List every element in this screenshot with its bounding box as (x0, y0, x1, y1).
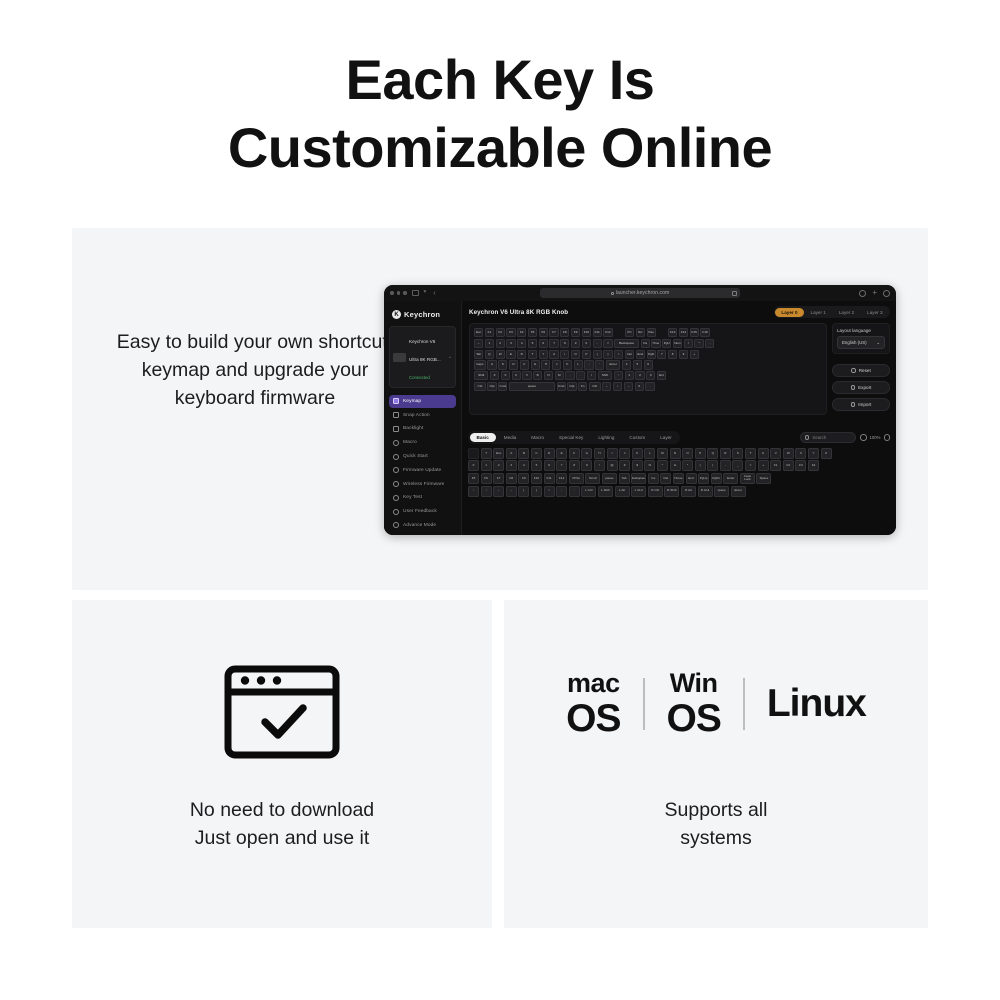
key-picker-key[interactable]: ? (481, 448, 492, 459)
key-picker-key[interactable]: 3 (506, 460, 517, 471)
key-picker-key[interactable]: F7 (493, 473, 504, 484)
key-picker-key[interactable]: space (714, 486, 729, 497)
keyboard-key[interactable]: F10 (582, 328, 591, 337)
key-picker-key[interactable]: 0 (468, 460, 479, 471)
keyboard-key[interactable]: O (571, 350, 580, 359)
keyboard-key[interactable]: H (541, 360, 550, 369)
keyboard-key[interactable]: Esc (474, 328, 483, 337)
keyboard-key[interactable]: ] (603, 350, 612, 359)
keyboard-key[interactable]: Y (539, 350, 548, 359)
keyboard-layout-panel[interactable]: EscF1F2F3F4F5F6F7F8F9F10F11F12PrtScrPauF… (469, 323, 827, 415)
layout-language-select[interactable]: English (US) ⌄ (837, 336, 885, 349)
key-picker-key[interactable]: O (682, 448, 693, 459)
os-macos-bottom: OS (566, 699, 620, 738)
keyboard-key[interactable]: Cmd (557, 382, 566, 391)
divider (643, 678, 645, 730)
keyboard-key[interactable]: Ent (657, 371, 666, 380)
hero-description: Easy to build your own shortcut, keymap … (110, 328, 400, 412)
keyboard-key[interactable]: PgD (647, 350, 656, 359)
keyboard-key[interactable]: End (636, 350, 645, 359)
keyboard-key[interactable]: Hme (651, 339, 660, 348)
keyboard-key[interactable]: F3 (506, 328, 515, 337)
keyboard-row: ~1234567890-=BackspaceInsHmePgUNum/*- (474, 339, 822, 348)
sidebar-item-label: Advance Mode (403, 523, 436, 528)
search-placeholder: Search (812, 435, 826, 440)
sidebar-item-key-test[interactable]: Key Test (389, 491, 456, 504)
import-icon (851, 402, 856, 407)
key-picker-key[interactable]: * (682, 460, 693, 471)
key-picker-key[interactable]: PgUp (698, 473, 709, 484)
keyboard-key[interactable]: B (533, 371, 542, 380)
key-picker-key[interactable]: Enter (723, 473, 738, 484)
keyboard-row: EscF1F2F3F4F5F6F7F8F9F10F11F12PrtScrPauF… (474, 328, 822, 337)
keyboard-key[interactable]: F13 (668, 328, 677, 337)
key-picker-key[interactable]: % (644, 460, 655, 471)
maximize-icon[interactable] (403, 291, 407, 295)
key-picker-key[interactable]: End (686, 473, 697, 484)
key-picker-key[interactable]: L (644, 448, 655, 459)
keyboard-key[interactable]: M (555, 371, 564, 380)
sidebar-item-quick-start[interactable]: Quick Start (389, 450, 456, 463)
keyboard-key[interactable]: F8 (560, 328, 569, 337)
key-picker-key[interactable]: F5 (468, 473, 479, 484)
keyboard-key[interactable]: Scr (636, 328, 645, 337)
key-picker-key[interactable]: _ (732, 460, 743, 471)
key-picker-key[interactable]: PrtSc (569, 473, 584, 484)
sidebar-nav: KeymapSnap ActionBacklightMacroQuick Sta… (389, 395, 456, 532)
zoom-in-icon[interactable] (884, 434, 891, 441)
key-picker-key[interactable]: ] (531, 486, 542, 497)
key-picker-key[interactable]: ↑ (468, 486, 479, 497)
keyboard-key[interactable]: → (624, 382, 633, 391)
key-picker-key[interactable]: Space (756, 473, 771, 484)
key-picker-key[interactable]: @ (607, 460, 618, 471)
key-picker-key[interactable]: R Shift (664, 486, 679, 497)
browser-titlebar: ▾ ‹ launcher.keychron.com + (384, 285, 896, 301)
keyboard-key[interactable]: U (549, 350, 558, 359)
key-picker-key[interactable]: U (758, 448, 769, 459)
page-title: Each Key Is Customizable Online (0, 46, 1000, 182)
keyboard-key[interactable]: space (509, 382, 555, 391)
keyboard-key[interactable]: ↓ (613, 382, 622, 391)
keyboard-key[interactable]: R (517, 350, 526, 359)
app-body: K Keychron Keychron V6 Ultra 8K RGB... C… (384, 301, 896, 535)
key-picker-key[interactable]: D (544, 448, 555, 459)
keyboard-key[interactable]: F12 (603, 328, 612, 337)
keyboard-key[interactable]: F5 (528, 328, 537, 337)
main-header: Keychron V6 Ultra 8K RGB Knob Layer 0Lay… (469, 306, 890, 318)
key-picker-key[interactable]: Z (821, 448, 832, 459)
device-thumbnail-icon (393, 353, 406, 362)
keyboard-key[interactable]: C (512, 371, 521, 380)
key-picker-toolbar: BasicMediaMacroSpecial KeyLightingCustom… (468, 431, 890, 444)
keyboard-key[interactable]: 4 (622, 360, 631, 369)
sidebar-item-wireless-firmware[interactable]: Wireless Firmware (389, 478, 456, 491)
keyboard-key[interactable]: = (603, 339, 612, 348)
search-icon (805, 435, 809, 439)
key-picker-key[interactable]: Y (808, 448, 819, 459)
key-picker-key[interactable]: X (795, 448, 806, 459)
keyboard-key[interactable]: 1 (485, 339, 494, 348)
keyboard-key[interactable]: + (690, 350, 699, 359)
keyboard-key[interactable]: F11 (593, 328, 602, 337)
keyboard-key[interactable]: 6 (644, 360, 653, 369)
snap-action-icon (393, 412, 399, 418)
reader-icon[interactable] (732, 291, 737, 296)
keychron-logo: K Keychron (389, 307, 456, 326)
keyboard-key[interactable]: Del (625, 350, 634, 359)
user-feedback-icon (393, 509, 399, 515)
keyboard-key[interactable]: L (574, 360, 583, 369)
keyboard-key[interactable]: ~ (474, 339, 483, 348)
key-picker-key[interactable]: # (619, 460, 630, 471)
key-picker-key[interactable]: R Alt (681, 486, 696, 497)
keyboard-key[interactable]: S (498, 360, 507, 369)
key-picker-key[interactable]: pause (602, 473, 617, 484)
card-supported-systems-caption: Supports all systems (504, 796, 928, 852)
key-picker-key[interactable]: Home (673, 473, 684, 484)
keyboard-key[interactable]: 3 (506, 339, 515, 348)
key-picker-key[interactable]: 8 (569, 460, 580, 471)
key-picker-key[interactable]: N (670, 448, 681, 459)
keyboard-key[interactable]: ↑ (614, 371, 623, 380)
key-picker-key[interactable]: Scroll (585, 473, 600, 484)
keyboard-key[interactable]: 5 (633, 360, 642, 369)
sidebar-item-firmware-update[interactable]: Firmware Update (389, 464, 456, 477)
keyboard-key[interactable]: F1 (485, 328, 494, 337)
window-controls[interactable] (390, 291, 407, 295)
key-picker-key[interactable]: ← (493, 486, 504, 497)
chevron-down-icon[interactable]: ▾ (424, 290, 427, 296)
os-windows-top: Win (670, 670, 718, 697)
key-picker-key[interactable]: $ (632, 460, 643, 471)
key-picker-key[interactable]: F1 (770, 460, 781, 471)
key-picker-key[interactable]: S (732, 448, 743, 459)
keyboard-key[interactable]: Num (673, 339, 682, 348)
sidebar-item-backlight[interactable]: Backlight (389, 423, 456, 436)
caption-line1: Supports all (665, 799, 768, 821)
keymap-icon (393, 398, 399, 404)
sidebar-item-snap-action[interactable]: Snap Action (389, 409, 456, 422)
keyboard-key[interactable]: 0 (582, 339, 591, 348)
key-picker-key[interactable]: F12 (556, 473, 567, 484)
key-picker-key[interactable]: & (670, 460, 681, 471)
keyboard-key[interactable]: E (506, 350, 515, 359)
share-icon[interactable] (859, 290, 866, 297)
keyboard-key[interactable]: X (501, 371, 510, 380)
key-picker-key[interactable]: \ (544, 486, 555, 497)
key-picker-key[interactable]: F6 (481, 473, 492, 484)
keyboard-key[interactable]: 7 (657, 350, 666, 359)
sidebar-item-macro[interactable]: Macro (389, 436, 456, 449)
key-picker-grid[interactable]: ?EscABCDEFGHIJKLMNOPQRSTUVWXYZ0123456789… (468, 448, 890, 497)
key-picker-key[interactable]: F2 (783, 460, 794, 471)
keyboard-key[interactable]: J (552, 360, 561, 369)
key-picker-key[interactable]: I (607, 448, 618, 459)
keyboard-key[interactable]: Enter (606, 360, 620, 369)
keyboard-key[interactable]: F9 (571, 328, 580, 337)
minimize-icon[interactable] (397, 291, 401, 295)
keyboard-key[interactable]: - (705, 339, 714, 348)
key-picker-key[interactable]: L GUI (631, 486, 646, 497)
keyboard-key[interactable]: , (565, 371, 574, 380)
keyboard-key[interactable]: F7 (549, 328, 558, 337)
wireless-firmware-icon (393, 481, 399, 487)
key-picker-key[interactable]: L Ctrl (581, 486, 596, 497)
keyboard-gap (657, 328, 666, 337)
search-input[interactable]: Search (800, 432, 856, 443)
key-picker-key[interactable]: M (657, 448, 668, 459)
keyboard-key[interactable]: Ctrl (474, 382, 486, 391)
key-picker-key[interactable]: 1 (481, 460, 492, 471)
tab-lighting[interactable]: Lighting (591, 433, 621, 443)
back-icon[interactable]: ‹ (433, 290, 435, 297)
key-picker-key[interactable]: 6 (544, 460, 555, 471)
tab-basic[interactable]: Basic (470, 433, 496, 443)
keyboard-key[interactable]: [ (593, 350, 602, 359)
keyboard-key[interactable]: D (509, 360, 518, 369)
close-icon[interactable] (390, 291, 394, 295)
keyboard-key[interactable]: I (560, 350, 569, 359)
keyboard-key[interactable]: G (531, 360, 540, 369)
keyboard-key[interactable]: Opt (487, 382, 496, 391)
tab-layer-0[interactable]: Layer 0 (775, 308, 803, 317)
chevron-down-icon[interactable]: ⌄ (448, 354, 452, 360)
key-picker-key[interactable]: 7 (556, 460, 567, 471)
key-picker-key[interactable]: E (556, 448, 567, 459)
keyboard-key[interactable]: . (576, 371, 585, 380)
sidebar-item-keymap[interactable]: Keymap (389, 395, 456, 408)
key-picker-key[interactable]: ↓ (481, 486, 492, 497)
keyboard-key[interactable]: ← (602, 382, 611, 391)
keyboard-key[interactable]: Tab (474, 350, 483, 359)
keyboard-key[interactable]: 3 (646, 371, 655, 380)
tab-media[interactable]: Media (497, 433, 524, 443)
sidebar-item-advance-mode[interactable]: Advance Mode (389, 519, 456, 532)
reset-button[interactable]: Reset (832, 364, 890, 377)
key-picker-key[interactable]: 5 (531, 460, 542, 471)
keyboard-key[interactable]: 5 (528, 339, 537, 348)
key-picker-key[interactable]: R Ctrl (648, 486, 663, 497)
key-picker-key[interactable]: F9 (518, 473, 529, 484)
device-status: Connected (409, 375, 430, 380)
layout-language-value: English (US) (842, 340, 867, 345)
key-picker-key[interactable]: → (506, 486, 517, 497)
tab-macro[interactable]: Macro (524, 433, 551, 443)
key-picker-key[interactable]: Tab (619, 473, 630, 484)
keyboard-key[interactable]: / (684, 339, 693, 348)
reset-icon (851, 368, 856, 373)
key-picker-key[interactable]: V (770, 448, 781, 459)
button-label: Reset (859, 368, 871, 373)
key-picker-key[interactable]: L Alt (615, 486, 630, 497)
key-picker-key[interactable]: 4 (518, 460, 529, 471)
quick-start-icon (393, 454, 399, 460)
keyboard-key[interactable]: Backspace (614, 339, 639, 348)
zoom-controls: 100% (860, 434, 890, 441)
keyboard-key[interactable]: \ (614, 350, 623, 359)
keychron-wordmark: Keychron (404, 310, 440, 319)
keyboard-key[interactable]: A (487, 360, 496, 369)
keyboard-key[interactable]: 8 (560, 339, 569, 348)
tabs-icon[interactable] (883, 290, 890, 297)
button-label: Export (858, 385, 871, 390)
keyboard-key[interactable]: Z (490, 371, 499, 380)
key-picker-key[interactable]: R (720, 448, 731, 459)
layout-language-label: Layout language (837, 328, 885, 333)
key-picker-key[interactable]: Enter (731, 486, 746, 497)
key-picker-key[interactable]: Esc (493, 448, 504, 459)
key-picker-key[interactable]: F10 (531, 473, 542, 484)
key-picker-key[interactable]: J (619, 448, 630, 459)
key-picker-key[interactable]: 2 (493, 460, 504, 471)
key-picker-key[interactable]: T (745, 448, 756, 459)
keyboard-key[interactable]: ' (595, 360, 604, 369)
key-picker-key[interactable]: F8 (506, 473, 517, 484)
keyboard-key[interactable]: 2 (496, 339, 505, 348)
address-bar[interactable]: launcher.keychron.com (540, 288, 740, 298)
sidebar-toggle-icon[interactable] (412, 290, 419, 296)
zoom-out-icon[interactable] (860, 434, 867, 441)
keyboard-key[interactable]: F2 (496, 328, 505, 337)
key-picker-key[interactable]: ; (556, 486, 567, 497)
key-picker-key[interactable]: H (594, 448, 605, 459)
key-picker-key[interactable]: K (632, 448, 643, 459)
keyboard-key[interactable]: P (582, 350, 591, 359)
keyboard-key[interactable]: Q (485, 350, 494, 359)
key-picker-key[interactable]: F3 (795, 460, 806, 471)
key-picker-key[interactable]: ( (695, 460, 706, 471)
keyboard-key[interactable]: F16 (700, 328, 709, 337)
layer-tabs: Layer 0Layer 1Layer 2Layer 3 (774, 306, 890, 318)
caption-line2: systems (680, 827, 752, 849)
tab-layer-2[interactable]: Layer 2 (833, 308, 860, 317)
key-picker-empty (468, 448, 479, 459)
key-picker-key[interactable]: 9 (581, 460, 592, 471)
key-picker-key[interactable]: ) (707, 460, 718, 471)
tab-layer[interactable]: Layer (653, 433, 679, 443)
keyboard-key[interactable]: F4 (517, 328, 526, 337)
keyboard-key[interactable]: Ins (641, 339, 650, 348)
keyboard-key[interactable]: F6 (539, 328, 548, 337)
keyboard-key[interactable]: V (522, 371, 531, 380)
keyboard-key[interactable]: Opt (567, 382, 576, 391)
key-picker-key[interactable]: Ins (648, 473, 659, 484)
promo-page: Each Key Is Customizable Online Easy to … (0, 0, 1000, 1000)
keyboard-key[interactable]: Shift (598, 371, 612, 380)
tab-custom[interactable]: Custom (622, 433, 652, 443)
sidebar-item-user-feedback[interactable]: User Feedback (389, 505, 456, 518)
key-picker-key[interactable]: = (745, 460, 756, 471)
key-picker-row: ?EscABCDEFGHIJKLMNOPQRSTUVWXYZ (468, 448, 890, 459)
key-picker-key[interactable]: R GUI (698, 486, 713, 497)
keyboard-key[interactable]: 9 (571, 339, 580, 348)
key-picker-key[interactable]: F11 (544, 473, 555, 484)
sidebar-item-label: Keymap (403, 399, 421, 404)
key-picker-key[interactable]: Q (707, 448, 718, 459)
keyboard-key[interactable]: F14 (679, 328, 688, 337)
key-picker-key[interactable]: Backspace (631, 473, 646, 484)
browser-toolbar-right: + (859, 289, 890, 297)
key-picker-key[interactable]: G (581, 448, 592, 459)
key-picker-key[interactable]: ' (569, 486, 580, 497)
keyboard-key[interactable]: K (563, 360, 572, 369)
keyboard-key[interactable]: Ctrl (589, 382, 601, 391)
keyboard-key[interactable]: ; (584, 360, 593, 369)
keyboard-key[interactable]: 8 (668, 350, 677, 359)
plus-icon[interactable]: + (872, 289, 877, 297)
key-picker-key[interactable]: ! (594, 460, 605, 471)
key-picker-key[interactable]: L Shift (598, 486, 613, 497)
os-macos-top: mac (567, 670, 620, 697)
key-picker-row: 0123456789!@#$%^&*()-_=+F1F2F3F4 (468, 460, 890, 471)
tab-special-key[interactable]: Special Key (552, 433, 590, 443)
keyboard-key[interactable]: 0 (635, 382, 644, 391)
device-selector[interactable]: Keychron V6 Ultra 8K RGB... Connected ⌄ (389, 326, 456, 388)
keyboard-key[interactable]: . (645, 382, 654, 391)
tab-layer-1[interactable]: Layer 1 (805, 308, 832, 317)
keyboard-key[interactable]: 9 (679, 350, 688, 359)
key-picker-key[interactable]: C (531, 448, 542, 459)
tab-layer-3[interactable]: Layer 3 (861, 308, 888, 317)
key-picker-key[interactable]: + (758, 460, 769, 471)
keyboard-key[interactable]: 7 (549, 339, 558, 348)
key-picker-key[interactable]: - (720, 460, 731, 471)
sidebar-item-label: User Feedback (403, 509, 437, 514)
keyboard-key[interactable]: / (587, 371, 596, 380)
key-picker-key[interactable]: PgDn (711, 473, 722, 484)
keyboard-key[interactable]: 1 (625, 371, 634, 380)
key-picker-key[interactable]: W (783, 448, 794, 459)
keyboard-key[interactable]: F15 (690, 328, 699, 337)
keyboard-key[interactable]: 4 (517, 339, 526, 348)
key-picker-key[interactable]: F (569, 448, 580, 459)
key-picker-key[interactable]: A (506, 448, 517, 459)
key-picker-key[interactable]: Del (660, 473, 671, 484)
keyboard-key[interactable]: N (544, 371, 553, 380)
keyboard-key[interactable]: Fn (578, 382, 587, 391)
keyboard-key[interactable]: 2 (635, 371, 644, 380)
keyboard-key[interactable]: 6 (539, 339, 548, 348)
keyboard-gap (614, 328, 623, 337)
keyboard-key[interactable]: Shift (474, 371, 488, 380)
chevron-down-icon: ⌄ (876, 340, 880, 346)
key-picker-key[interactable]: Caps Lock (740, 473, 755, 484)
keyboard-key[interactable]: * (694, 339, 703, 348)
keyboard-key[interactable]: F (520, 360, 529, 369)
macro-icon (393, 440, 399, 446)
keyboard-key[interactable]: W (496, 350, 505, 359)
sidebar-item-label: Snap Action (403, 413, 430, 418)
key-picker-key[interactable]: B (518, 448, 529, 459)
keyboard-key[interactable]: Prt (625, 328, 634, 337)
keyboard-key[interactable]: Caps (474, 360, 486, 369)
export-button[interactable]: Export (832, 381, 890, 394)
layout-side-panel: Layout language English (US) ⌄ ResetExpo… (832, 323, 890, 415)
keyboard-key[interactable]: - (593, 339, 602, 348)
import-button[interactable]: Import (832, 398, 890, 411)
key-picker-key[interactable]: ^ (657, 460, 668, 471)
key-picker-key[interactable]: P (695, 448, 706, 459)
keyboard-key[interactable]: T (528, 350, 537, 359)
side-panel-actions: ResetExportImport (832, 364, 890, 411)
keyboard-key[interactable]: PgU (662, 339, 671, 348)
key-picker-key[interactable]: F4 (808, 460, 819, 471)
os-linux: Linux (767, 682, 866, 726)
keyboard-key[interactable]: Pau (647, 328, 656, 337)
keyboard-key[interactable]: Cmd (498, 382, 507, 391)
key-picker-key[interactable]: [ (518, 486, 529, 497)
